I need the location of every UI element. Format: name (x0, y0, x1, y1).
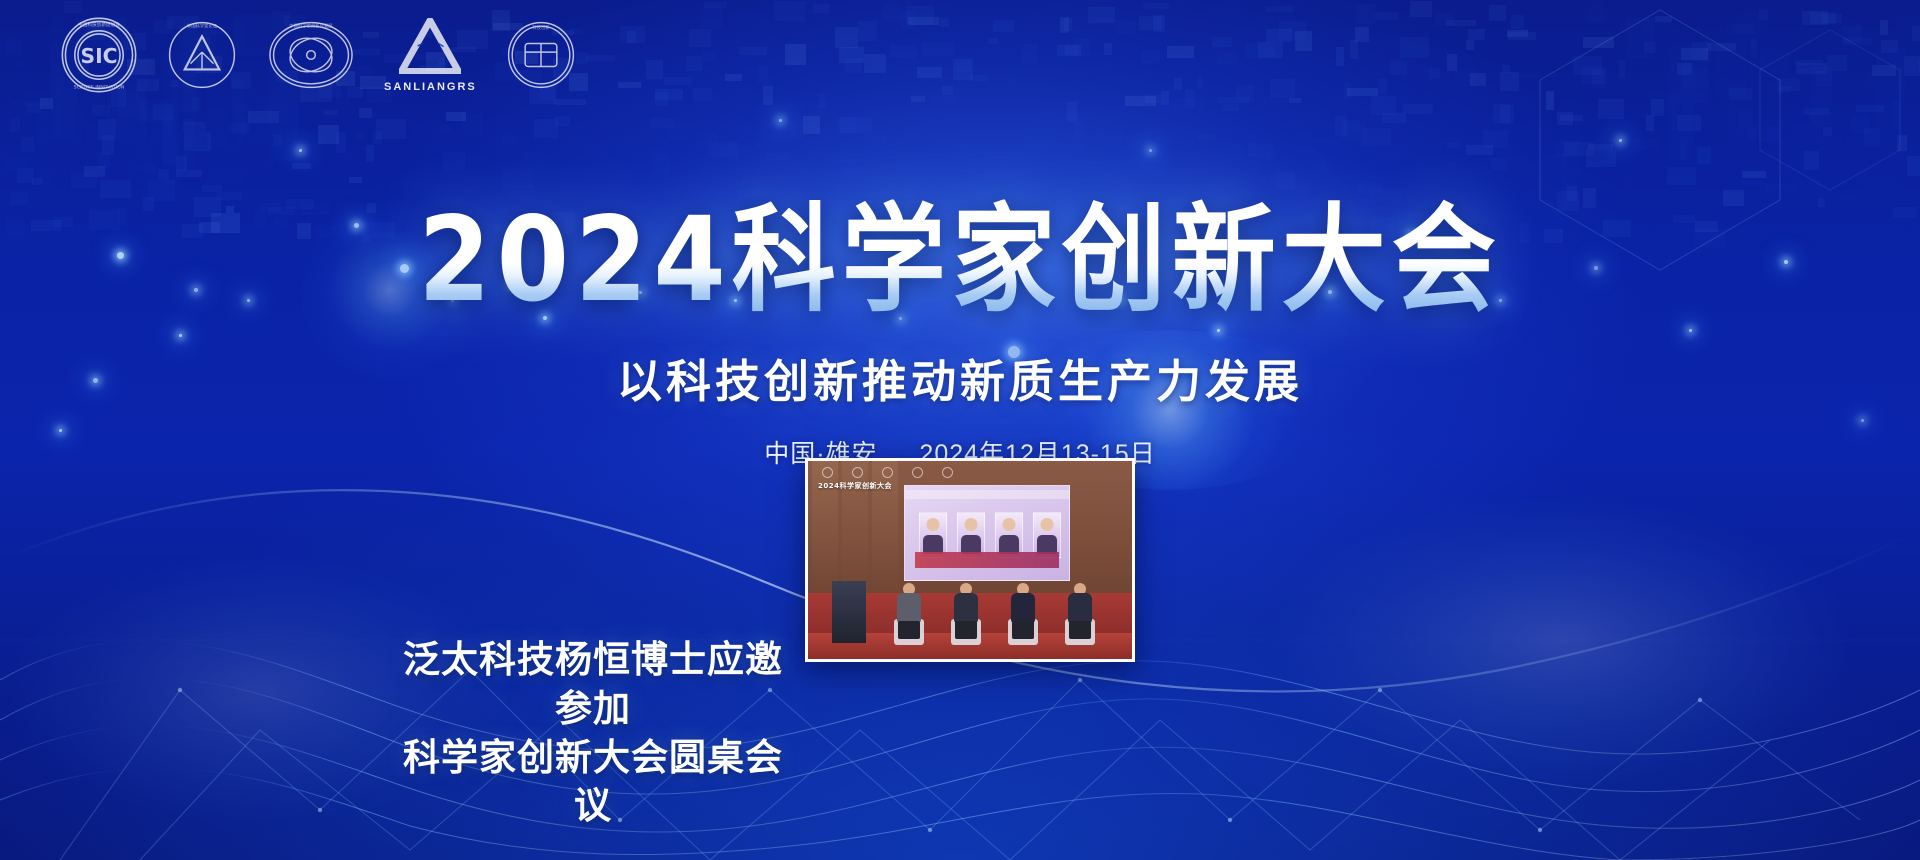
photo-panelist-body (1011, 593, 1035, 623)
city-block (1057, 45, 1081, 56)
city-block (1780, 86, 1791, 93)
city-building (25, 86, 59, 139)
city-building (1575, 120, 1614, 145)
city-block (664, 77, 692, 85)
city-block (757, 66, 768, 83)
city-block (1355, 27, 1369, 42)
city-block (587, 55, 615, 61)
city-block (689, 29, 711, 47)
city-block (1912, 26, 1920, 41)
city-block (1065, 45, 1078, 55)
city-block (1371, 96, 1396, 115)
city-block (1276, 171, 1295, 189)
city-block (1619, 60, 1625, 79)
city-block (1651, 99, 1664, 116)
city-block (1677, 63, 1692, 75)
city-block (1228, 146, 1237, 154)
city-block (153, 104, 173, 120)
city-block (1511, 73, 1537, 78)
city-block (1680, 139, 1687, 160)
city-block (554, 99, 586, 105)
city-block (336, 132, 346, 153)
city-block (13, 101, 44, 106)
city-block (176, 170, 202, 177)
city-block (652, 154, 670, 174)
city-block (1350, 40, 1358, 59)
city-block (1644, 42, 1656, 53)
title-block: 2024科学家创新大会 以科技创新推动新质生产力发展 中国·雄安 2024年12… (0, 206, 1920, 470)
city-block (1245, 42, 1275, 58)
city-building (1734, 15, 1770, 50)
photo-panelist-legs (1012, 621, 1034, 639)
photo-panelist (951, 583, 981, 641)
city-block (1023, 44, 1038, 64)
city-block (1635, 138, 1659, 150)
city-block (555, 116, 570, 126)
city-building (244, 96, 273, 137)
conference-poster: SIC 中国科技创新促进会 SCIENCE INNOVATION 中国科学家论坛 (0, 0, 1920, 860)
city-block (1667, 167, 1696, 185)
photo-portrait-face (1003, 518, 1016, 531)
city-block (1400, 37, 1429, 58)
city-block (1795, 60, 1823, 65)
city-block (669, 125, 696, 139)
city-block (970, 75, 988, 81)
photo-panelist-legs (1069, 621, 1091, 639)
city-block (655, 89, 683, 100)
city-block (1644, 17, 1674, 34)
main-title: 2024科学家创新大会 (418, 199, 1501, 321)
city-block (1483, 130, 1508, 148)
city-block (1866, 71, 1876, 87)
city-building (1562, 100, 1580, 206)
city-block (1341, 124, 1366, 139)
city-building (1623, 110, 1634, 195)
city-building (1862, 99, 1901, 192)
city-block (1466, 40, 1474, 50)
city-block (620, 26, 645, 43)
city-block (1864, 128, 1880, 146)
city-block (818, 94, 826, 108)
city-block (1707, 43, 1736, 51)
city-block (443, 152, 465, 171)
city-block (704, 2, 727, 8)
city-block (1382, 113, 1406, 123)
city-block (906, 6, 934, 25)
city-block (1586, 150, 1616, 167)
city-block (1265, 6, 1293, 12)
city-block (763, 86, 773, 105)
city-block (216, 192, 242, 200)
city-block (890, 45, 917, 58)
city-block (1131, 132, 1152, 148)
city-building (1715, 38, 1746, 96)
city-block (1646, 115, 1654, 131)
city-block (1060, 17, 1069, 33)
city-block (1300, 131, 1312, 138)
city-block (1067, 102, 1077, 122)
city-building (1750, 9, 1764, 87)
city-block (813, 4, 829, 13)
city-block (1198, 134, 1216, 140)
city-block (1872, 65, 1896, 76)
city-block (1269, 173, 1296, 191)
photo-panelist (894, 583, 924, 641)
city-block (765, 153, 789, 160)
city-building (163, 118, 191, 164)
city-block (1897, 135, 1907, 151)
city-block (10, 118, 20, 132)
city-block (446, 112, 466, 121)
svg-text:SCIENCE INNOVATION: SCIENCE INNOVATION (74, 85, 125, 91)
city-block (439, 125, 453, 133)
city-block (1742, 171, 1766, 178)
city-block (1266, 29, 1292, 42)
city-block (956, 57, 971, 72)
city-block (608, 158, 615, 164)
city-block (576, 52, 588, 64)
city-block (1335, 116, 1347, 136)
city-block (1403, 104, 1433, 114)
photo-projection-screen (904, 485, 1070, 581)
city-block (1598, 99, 1624, 119)
city-block (17, 168, 34, 183)
city-building (207, 110, 245, 184)
city-block (521, 152, 544, 168)
city-block (534, 119, 558, 138)
city-building (1708, 77, 1726, 101)
city-block (359, 108, 372, 118)
city-block (835, 27, 858, 48)
city-block (1270, 79, 1295, 98)
city-block (1655, 16, 1672, 22)
city-block (1583, 188, 1596, 208)
city-building (1682, 48, 1696, 124)
city-block (1587, 2, 1605, 22)
subtitle: 以科技创新推动新质生产力发展 (0, 345, 1920, 410)
city-block (192, 97, 199, 110)
city-block (1356, 4, 1375, 24)
city-block (1581, 67, 1605, 84)
city-block (1161, 91, 1169, 105)
city-block (1759, 10, 1768, 20)
city-block (98, 152, 110, 168)
city-building (1820, 104, 1843, 150)
city-building (1626, 18, 1654, 58)
photo-topbar-icon (942, 467, 953, 478)
city-block (1907, 156, 1920, 176)
city-block (774, 1, 805, 21)
photo-panelist-legs (955, 621, 977, 639)
city-block (1218, 143, 1241, 159)
city-block (1822, 14, 1842, 23)
city-block (1447, 54, 1457, 71)
city-block (953, 59, 973, 80)
city-block (1299, 148, 1317, 154)
city-block (1567, 186, 1577, 201)
photo-portrait-face (1041, 518, 1054, 531)
city-block (845, 58, 862, 73)
city-block (318, 125, 339, 144)
city-block (1677, 115, 1701, 131)
city-block (921, 43, 953, 56)
photo-screen-header (905, 490, 1069, 499)
city-block (911, 96, 925, 102)
city-block (1319, 158, 1331, 172)
city-block (1880, 20, 1888, 35)
city-block (819, 128, 845, 149)
city-building (12, 34, 23, 67)
city-block (228, 123, 250, 134)
city-building (1898, 6, 1920, 86)
city-block (840, 117, 872, 133)
city-block (686, 56, 702, 71)
city-block (858, 21, 877, 41)
city-block (1343, 120, 1360, 129)
city-block (248, 111, 279, 123)
city-block (693, 88, 712, 101)
city-block (1738, 109, 1752, 129)
city-block (883, 4, 902, 20)
city-block (1851, 116, 1870, 134)
caption-line-1: 泛太科技杨恒博士应邀参加 (388, 636, 798, 734)
city-block (1697, 147, 1711, 164)
photo-screen-title: 2024科学家创新大会 (818, 481, 892, 491)
city-block (1174, 78, 1182, 90)
city-block (797, 101, 815, 110)
city-block (1843, 26, 1862, 42)
city-block (1125, 96, 1156, 106)
city-block (98, 119, 116, 140)
city-block (1751, 39, 1757, 58)
city-block (1429, 68, 1440, 79)
city-building (84, 85, 105, 149)
city-building (184, 119, 195, 170)
sparkle (1619, 139, 1622, 142)
city-block (627, 31, 636, 43)
city-block (725, 74, 742, 81)
city-block (1408, 152, 1430, 158)
city-block (40, 98, 53, 109)
city-block (822, 123, 839, 131)
city-block (1031, 158, 1045, 175)
city-block (1141, 51, 1160, 63)
city-block (1796, 63, 1827, 74)
city-block (700, 7, 723, 27)
city-block (832, 149, 862, 162)
city-block (273, 134, 282, 147)
city-block (1881, 40, 1898, 53)
city-block (292, 163, 311, 169)
city-block (1511, 15, 1524, 29)
city-block (650, 118, 675, 128)
city-block (1564, 142, 1595, 156)
city-block (133, 164, 156, 173)
city-block (655, 92, 668, 106)
city-block (756, 135, 783, 148)
city-block (1556, 140, 1579, 157)
city-block (803, 116, 820, 134)
city-block (908, 17, 939, 25)
photo-screen-banner (915, 552, 1059, 568)
sparkle (1149, 149, 1152, 152)
city-building (1781, 105, 1820, 179)
city-block (618, 82, 641, 88)
city-building (1668, 100, 1693, 161)
city-block (1248, 142, 1274, 157)
city-block (708, 142, 738, 157)
city-block (988, 38, 998, 44)
city-block (1493, 104, 1510, 123)
sparkle (779, 119, 782, 122)
city-block (502, 169, 533, 189)
photo-screen-topbar (816, 467, 1124, 481)
city-block (21, 137, 34, 152)
city-block (1435, 13, 1454, 26)
city-block (1500, 105, 1514, 124)
city-building (107, 90, 146, 137)
photo-panelist-body (954, 593, 978, 623)
city-block (1236, 85, 1254, 102)
city-building (139, 100, 174, 122)
city-block (1827, 55, 1847, 71)
city-block (373, 131, 382, 144)
city-building (143, 108, 179, 213)
photo-topbar-icon (882, 467, 893, 478)
city-building (1676, 89, 1711, 170)
city-block (1737, 11, 1751, 27)
city-block (1097, 132, 1124, 141)
city-block (1209, 182, 1216, 187)
city-building (1892, 95, 1905, 144)
photo-panelist-body (897, 593, 921, 623)
city-block (942, 86, 953, 95)
city-block (1088, 7, 1115, 23)
city-block (1502, 65, 1510, 73)
city-block (1289, 98, 1301, 103)
city-block (92, 105, 110, 116)
city-block (71, 171, 97, 188)
city-block (841, 159, 858, 178)
city-block (1410, 1, 1432, 17)
city-block (1583, 37, 1614, 48)
atom-oval-seal-logo: 中国科学家创新成果展 (266, 19, 356, 91)
city-block (400, 170, 427, 188)
city-block (1823, 127, 1832, 136)
city-block (654, 151, 663, 160)
photo-panelist-body (1068, 593, 1092, 623)
caption-line-2: 科学家创新大会圆桌会议 (388, 734, 798, 832)
city-block (100, 180, 131, 198)
city-block (1104, 43, 1112, 55)
city-block (1500, 72, 1519, 91)
sanhuan-triangle-logo (399, 18, 461, 74)
city-building (1727, 83, 1756, 147)
city-block (1804, 108, 1829, 115)
city-block (1810, 12, 1836, 24)
city-block (1446, 20, 1476, 26)
city-block (1592, 69, 1607, 88)
city-building (1669, 42, 1708, 103)
city-building (1845, 95, 1865, 179)
city-building (242, 117, 267, 148)
city-block (901, 11, 916, 29)
city-block (864, 54, 886, 73)
city-block (1470, 73, 1486, 86)
city-block (1007, 73, 1016, 87)
city-block (1034, 140, 1056, 152)
city-block (1507, 30, 1528, 37)
city-block (1362, 128, 1391, 146)
city-block (1167, 46, 1194, 58)
city-block (1838, 194, 1863, 201)
city-block (1173, 98, 1204, 109)
photo-topbar-icon (822, 467, 833, 478)
city-block (1447, 141, 1460, 148)
city-building (1850, 19, 1861, 39)
city-building (1649, 89, 1676, 131)
city-block (1742, 180, 1763, 185)
city-block (1116, 21, 1136, 34)
sparkle (299, 149, 302, 152)
svg-text:中国科学家创新成果展: 中国科学家创新成果展 (289, 23, 333, 30)
city-block (1557, 112, 1573, 125)
city-block (1729, 88, 1752, 100)
city-block (492, 171, 519, 191)
city-block (366, 145, 374, 162)
city-block (917, 67, 942, 78)
triangle-seal-logo: 中国科学家论坛 (166, 19, 238, 91)
city-block (1727, 24, 1754, 34)
city-block (158, 169, 169, 180)
city-block (1723, 190, 1744, 206)
city-block (790, 121, 802, 140)
city-building (1876, 48, 1905, 129)
city-block (871, 135, 886, 146)
city-block (1223, 103, 1239, 111)
city-block (1777, 78, 1800, 91)
city-block (993, 20, 1014, 32)
city-block (1466, 145, 1493, 155)
city-block (1185, 89, 1194, 107)
city-block (931, 96, 958, 101)
city-block (6, 39, 21, 55)
city-block (1802, 11, 1828, 25)
city-building (1793, 111, 1821, 212)
city-block (940, 18, 949, 27)
photo-portrait-face (965, 518, 978, 531)
caption-block: 泛太科技杨恒博士应邀参加 科学家创新大会圆桌会议 (388, 636, 798, 831)
round-emblem-logo: 科技创新 (505, 19, 577, 91)
city-block (64, 1, 82, 13)
city-block (858, 173, 882, 191)
city-block (1212, 37, 1232, 47)
sic-seal-logo: SIC 中国科技创新促进会 SCIENCE INNOVATION (60, 16, 138, 94)
city-building (238, 103, 250, 132)
photo-topbar-icon (852, 467, 863, 478)
city-block (646, 60, 663, 79)
city-block (349, 177, 362, 183)
city-block (1904, 56, 1920, 76)
city-block (738, 12, 768, 27)
photo-podium (832, 581, 866, 643)
svg-text:SIC: SIC (80, 44, 117, 68)
city-block (411, 121, 438, 136)
sanliangrs-logo-block: SANLIANGRS (384, 18, 477, 93)
sanliangrs-logo-text: SANLIANGRS (384, 81, 477, 93)
city-block (785, 44, 806, 65)
city-block (773, 124, 803, 141)
